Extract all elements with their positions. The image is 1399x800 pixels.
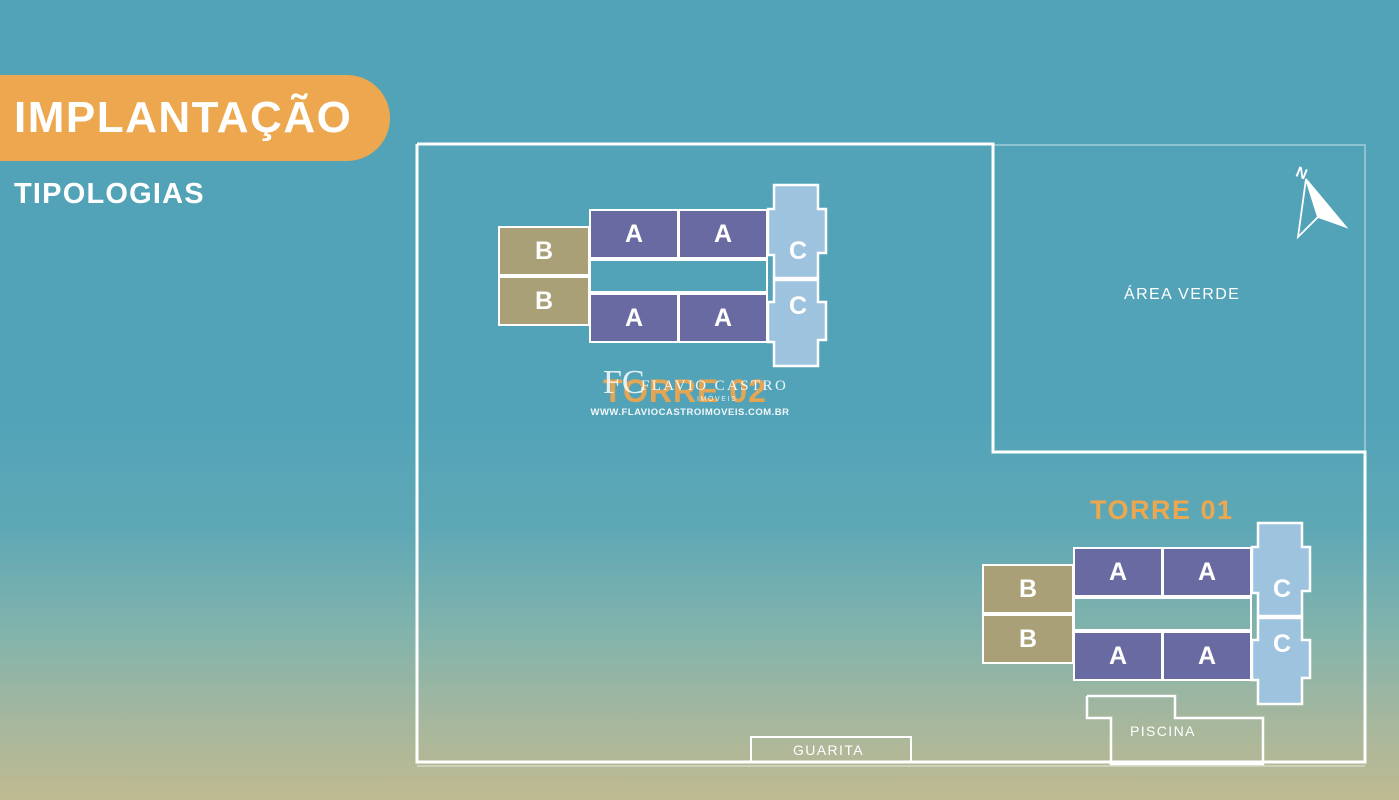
unit-a-top-left-torre-01[interactable]: A <box>1073 547 1163 597</box>
unit-b-bottom-torre-01[interactable]: B <box>982 614 1074 664</box>
unit-a-bottom-left-torre-01[interactable]: A <box>1073 631 1163 681</box>
unit-c-top-label-torre-01: C <box>1273 575 1291 604</box>
unit-b-top-torre-01[interactable]: B <box>982 564 1074 614</box>
unit-a-top-right-torre-01[interactable]: A <box>1162 547 1252 597</box>
unit-a-bottom-right-torre-01[interactable]: A <box>1162 631 1252 681</box>
unit-c-bottom-label-torre-01: C <box>1273 630 1291 659</box>
implantacao-site-plan: IMPLANTAÇÃO TIPOLOGIAS N ÁREA VERDE GUAR… <box>0 0 1399 800</box>
tower-block-torre-01: TORRE 01 B B A A A A C C <box>0 0 1399 800</box>
tower-name-torre-01: TORRE 01 <box>1090 495 1234 526</box>
corridor-void-torre-01 <box>1073 597 1252 631</box>
